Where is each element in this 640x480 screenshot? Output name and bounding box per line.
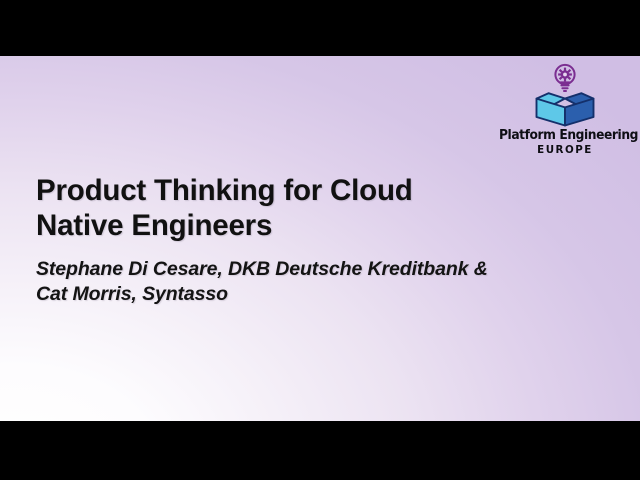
conference-logo: Platform Engineering Day EUROPE bbox=[494, 60, 636, 156]
video-frame: Platform Engineering Day EUROPE Product … bbox=[0, 0, 640, 480]
presentation-slide: Platform Engineering Day EUROPE Product … bbox=[0, 56, 640, 421]
letterbox-bar-top bbox=[0, 0, 640, 56]
conference-name-label: Platform Engineering Day bbox=[499, 129, 631, 142]
talk-speakers: Stephane Di Cesare, DKB Deutsche Kreditb… bbox=[36, 257, 488, 307]
talk-title: Product Thinking for Cloud Native Engine… bbox=[36, 173, 413, 243]
conference-region-label: EUROPE bbox=[494, 145, 636, 155]
lightbulb-in-open-box-icon bbox=[528, 60, 602, 128]
letterbox-bar-bottom bbox=[0, 421, 640, 480]
